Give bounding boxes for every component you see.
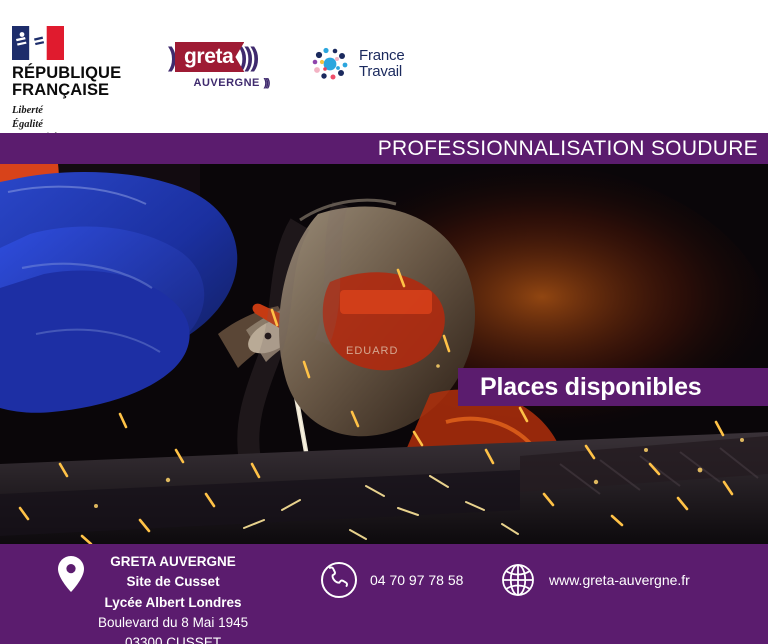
website-block[interactable]: www.greta-auvergne.fr: [499, 561, 690, 599]
address-block: GRETA AUVERGNE Site de Cusset Lycée Albe…: [58, 552, 248, 644]
address-line-5: 03300 CUSSET: [98, 633, 248, 644]
france-travail-logo: France Travail: [310, 44, 405, 84]
address-line-2: Site de Cusset: [98, 572, 248, 592]
greta-band: greta: [175, 42, 244, 72]
location-pin-icon: [58, 556, 84, 592]
title-band: PROFESSIONNALISATION SOUDURE: [0, 133, 768, 164]
svg-text:EDUARD: EDUARD: [346, 345, 398, 357]
page-title: PROFESSIONNALISATION SOUDURE: [378, 137, 768, 161]
republique-title: RÉPUBLIQUE FRANÇAISE: [12, 65, 132, 99]
availability-badge: Places disponibles: [458, 368, 768, 406]
globe-icon: [499, 561, 537, 599]
greta-wordmark-row: ) greta ))): [168, 40, 294, 74]
france-travail-text: France Travail: [359, 48, 405, 80]
hero-photo: WELDING EDUARD: [0, 164, 768, 544]
greta-region-chevrons-icon: ))): [263, 77, 268, 89]
french-flag-marianne-icon: [12, 26, 64, 60]
republique-title-line1: RÉPUBLIQUE: [12, 65, 132, 82]
poster-root: RÉPUBLIQUE FRANÇAISE Liberté Égalité Fra…: [0, 0, 768, 644]
france-travail-line2: Travail: [359, 64, 405, 80]
greta-region: AUVERGNE ))): [168, 77, 294, 89]
motto-liberte: Liberté: [12, 104, 132, 118]
phone-handset-icon: [320, 561, 358, 599]
address-lines: GRETA AUVERGNE Site de Cusset Lycée Albe…: [98, 552, 248, 644]
republique-title-line2: FRANÇAISE: [12, 82, 132, 99]
footer-bar: GRETA AUVERGNE Site de Cusset Lycée Albe…: [0, 544, 768, 644]
phone-number[interactable]: 04 70 97 78 58: [370, 572, 463, 588]
greta-paren-right-icon: ))): [238, 44, 256, 71]
france-travail-dots-icon: [310, 44, 352, 84]
phone-block[interactable]: 04 70 97 78 58: [320, 561, 463, 599]
welder-photo-illustration: WELDING EDUARD: [0, 164, 768, 544]
address-line-4: Boulevard du 8 Mai 1945: [98, 613, 248, 633]
address-line-3: Lycée Albert Londres: [98, 593, 248, 613]
greta-wordmark: greta: [184, 46, 233, 67]
logo-bar: RÉPUBLIQUE FRANÇAISE Liberté Égalité Fra…: [0, 0, 768, 133]
availability-badge-label: Places disponibles: [458, 373, 702, 402]
france-travail-line1: France: [359, 48, 405, 64]
website-url[interactable]: www.greta-auvergne.fr: [549, 572, 690, 588]
republique-francaise-logo: RÉPUBLIQUE FRANÇAISE Liberté Égalité Fra…: [12, 26, 132, 145]
address-line-1: GRETA AUVERGNE: [98, 552, 248, 572]
greta-logo: ) greta ))) AUVERGNE ))): [168, 40, 294, 89]
greta-region-label: AUVERGNE: [194, 77, 260, 89]
motto-egalite: Égalité: [12, 118, 132, 132]
